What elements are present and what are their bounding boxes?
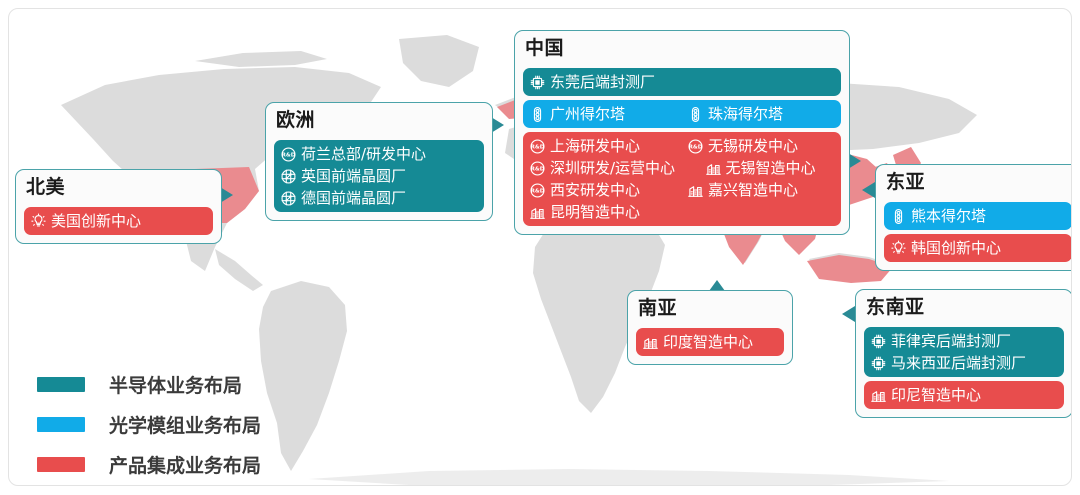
business-block-semiconductor: R&D荷兰总部/研发中心英国前端晶圆厂德国前端晶圆厂 xyxy=(274,140,484,212)
lightbulb-icon xyxy=(890,240,907,257)
facility-label: 熊本得尔塔 xyxy=(911,205,986,227)
business-block-product_integration: 韩国创新中心 xyxy=(884,234,1072,262)
legend-label: 半导体业务布局 xyxy=(109,371,242,398)
facility-row: 熊本得尔塔 xyxy=(890,205,1066,227)
legend-label: 光学模组业务布局 xyxy=(109,411,261,438)
facility-item[interactable]: 美国创新中心 xyxy=(30,210,141,232)
facility-item[interactable]: 东莞后端封测厂 xyxy=(529,71,655,93)
camera-module-icon xyxy=(890,208,907,225)
facility-label: 印度智造中心 xyxy=(663,331,753,353)
facility-label: 美国创新中心 xyxy=(51,210,141,232)
facility-label: 菲律宾后端封测厂 xyxy=(891,330,1011,352)
facility-item[interactable]: R&D西安研发中心 xyxy=(529,179,677,201)
business-block-semiconductor: 东莞后端封测厂 xyxy=(523,68,841,96)
facility-row: R&D荷兰总部/研发中心 xyxy=(280,143,478,165)
facility-label: 东莞后端封测厂 xyxy=(550,71,655,93)
facility-label: 印尼智造中心 xyxy=(891,384,981,406)
color-swatch-icon xyxy=(37,417,85,432)
facility-item[interactable]: 英国前端晶圆厂 xyxy=(280,165,406,187)
legend-item: 半导体业务布局 xyxy=(37,364,261,404)
chip-icon xyxy=(870,355,887,372)
rnd-badge-icon: R&D xyxy=(687,138,704,155)
svg-text:R&D: R&D xyxy=(282,152,296,158)
region-title-southeast-asia: 东南亚 xyxy=(864,296,1064,323)
color-swatch-icon xyxy=(37,377,85,392)
region-title-china: 中国 xyxy=(523,37,841,64)
facility-label: 上海研发中心 xyxy=(550,135,640,157)
chip-icon xyxy=(870,333,887,350)
region-card-south-asia[interactable]: 南亚印度智造中心 xyxy=(627,290,793,365)
facility-item[interactable]: 无锡智造中心 xyxy=(705,157,835,179)
region-title-east-asia: 东亚 xyxy=(884,171,1072,198)
facility-label: 无锡研发中心 xyxy=(708,135,798,157)
pointer-southeast-asia xyxy=(842,306,855,322)
region-title-south-asia: 南亚 xyxy=(636,297,784,324)
facility-label: 珠海得尔塔 xyxy=(708,103,783,125)
pointer-east-asia xyxy=(862,182,875,198)
facility-item[interactable]: R&D深圳研发/运营中心 xyxy=(529,157,695,179)
factory-icon xyxy=(870,387,887,404)
business-block-product_integration: 印尼智造中心 xyxy=(864,381,1064,409)
facility-item[interactable]: 珠海得尔塔 xyxy=(687,103,835,125)
facility-item[interactable]: 韩国创新中心 xyxy=(890,237,1001,259)
facility-item[interactable]: 印尼智造中心 xyxy=(870,384,981,406)
facility-item[interactable]: R&D无锡研发中心 xyxy=(687,135,835,157)
region-card-southeast-asia[interactable]: 东南亚菲律宾后端封测厂马来西亚后端封测厂印尼智造中心 xyxy=(855,289,1072,418)
facility-item[interactable]: 嘉兴智造中心 xyxy=(687,179,835,201)
business-block-semiconductor: 菲律宾后端封测厂马来西亚后端封测厂 xyxy=(864,327,1064,377)
facility-row: 韩国创新中心 xyxy=(890,237,1066,259)
region-card-east-asia[interactable]: 东亚熊本得尔塔韩国创新中心 xyxy=(875,164,1072,271)
facility-row: 德国前端晶圆厂 xyxy=(280,187,478,209)
facility-item[interactable]: R&D荷兰总部/研发中心 xyxy=(280,143,426,165)
facility-label: 无锡智造中心 xyxy=(726,157,816,179)
facility-row: 菲律宾后端封测厂 xyxy=(870,330,1058,352)
region-card-north-america[interactable]: 北美美国创新中心 xyxy=(15,169,222,244)
facility-label: 嘉兴智造中心 xyxy=(708,179,798,201)
facility-item[interactable]: 昆明智造中心 xyxy=(529,201,640,223)
legend: 半导体业务布局光学模组业务布局产品集成业务布局 xyxy=(37,364,261,484)
business-block-product_integration: 印度智造中心 xyxy=(636,328,784,356)
legend-item: 光学模组业务布局 xyxy=(37,404,261,444)
facility-label: 荷兰总部/研发中心 xyxy=(301,143,426,165)
svg-text:R&D: R&D xyxy=(531,166,545,172)
rnd-badge-icon: R&D xyxy=(529,160,546,177)
region-card-europe[interactable]: 欧洲R&D荷兰总部/研发中心英国前端晶圆厂德国前端晶圆厂 xyxy=(265,102,493,221)
facility-item[interactable]: 广州得尔塔 xyxy=(529,103,677,125)
facility-item[interactable]: 德国前端晶圆厂 xyxy=(280,187,406,209)
business-block-product_integration: R&D上海研发中心R&D无锡研发中心R&D深圳研发/运营中心无锡智造中心R&D西… xyxy=(523,132,841,226)
rnd-badge-icon: R&D xyxy=(529,182,546,199)
business-block-optical_module: 广州得尔塔珠海得尔塔 xyxy=(523,100,841,128)
facility-label: 英国前端晶圆厂 xyxy=(301,165,406,187)
facility-row: 马来西亚后端封测厂 xyxy=(870,352,1058,374)
facility-row: 广州得尔塔珠海得尔塔 xyxy=(529,103,835,125)
legend-item: 产品集成业务布局 xyxy=(37,444,261,484)
facility-label: 广州得尔塔 xyxy=(550,103,625,125)
facility-label: 西安研发中心 xyxy=(550,179,640,201)
region-card-china[interactable]: 中国东莞后端封测厂广州得尔塔珠海得尔塔R&D上海研发中心R&D无锡研发中心R&D… xyxy=(514,30,850,235)
facility-row: R&D上海研发中心R&D无锡研发中心 xyxy=(529,135,835,157)
camera-module-icon xyxy=(529,106,546,123)
color-swatch-icon xyxy=(37,457,85,472)
facility-item[interactable]: R&D上海研发中心 xyxy=(529,135,677,157)
business-block-optical_module: 熊本得尔塔 xyxy=(884,202,1072,230)
svg-text:R&D: R&D xyxy=(531,144,545,150)
facility-item[interactable]: 菲律宾后端封测厂 xyxy=(870,330,1011,352)
camera-module-icon xyxy=(687,106,704,123)
facility-label: 昆明智造中心 xyxy=(550,201,640,223)
facility-label: 韩国创新中心 xyxy=(911,237,1001,259)
facility-label: 马来西亚后端封测厂 xyxy=(891,352,1026,374)
factory-icon xyxy=(642,334,659,351)
wafer-icon xyxy=(280,190,297,207)
chip-icon xyxy=(529,74,546,91)
facility-row: R&D西安研发中心嘉兴智造中心 xyxy=(529,179,835,201)
factory-icon xyxy=(705,160,722,177)
facility-row: 昆明智造中心 xyxy=(529,201,835,223)
factory-icon xyxy=(529,204,546,221)
facility-item[interactable]: 熊本得尔塔 xyxy=(890,205,986,227)
factory-icon xyxy=(687,182,704,199)
facility-row: 英国前端晶圆厂 xyxy=(280,165,478,187)
svg-text:R&D: R&D xyxy=(689,144,703,150)
facility-row: R&D深圳研发/运营中心无锡智造中心 xyxy=(529,157,835,179)
lightbulb-icon xyxy=(30,213,47,230)
global-footprint-map-infographic: 北美美国创新中心 欧洲R&D荷兰总部/研发中心英国前端晶圆厂德国前端晶圆厂 中国… xyxy=(0,0,1080,495)
facility-row: 美国创新中心 xyxy=(30,210,207,232)
svg-text:R&D: R&D xyxy=(531,188,545,194)
facility-row: 东莞后端封测厂 xyxy=(529,71,835,93)
legend-label: 产品集成业务布局 xyxy=(109,451,261,478)
business-block-product_integration: 美国创新中心 xyxy=(24,207,213,235)
facility-item[interactable]: 马来西亚后端封测厂 xyxy=(870,352,1026,374)
facility-label: 德国前端晶圆厂 xyxy=(301,187,406,209)
region-title-europe: 欧洲 xyxy=(274,109,484,136)
rnd-badge-icon: R&D xyxy=(529,138,546,155)
facility-row: 印度智造中心 xyxy=(642,331,778,353)
facility-label: 深圳研发/运营中心 xyxy=(550,157,675,179)
rnd-badge-icon: R&D xyxy=(280,146,297,163)
facility-row: 印尼智造中心 xyxy=(870,384,1058,406)
wafer-icon xyxy=(280,168,297,185)
region-title-north-america: 北美 xyxy=(24,176,213,203)
content-frame: 北美美国创新中心 欧洲R&D荷兰总部/研发中心英国前端晶圆厂德国前端晶圆厂 中国… xyxy=(8,8,1072,486)
facility-item[interactable]: 印度智造中心 xyxy=(642,331,753,353)
